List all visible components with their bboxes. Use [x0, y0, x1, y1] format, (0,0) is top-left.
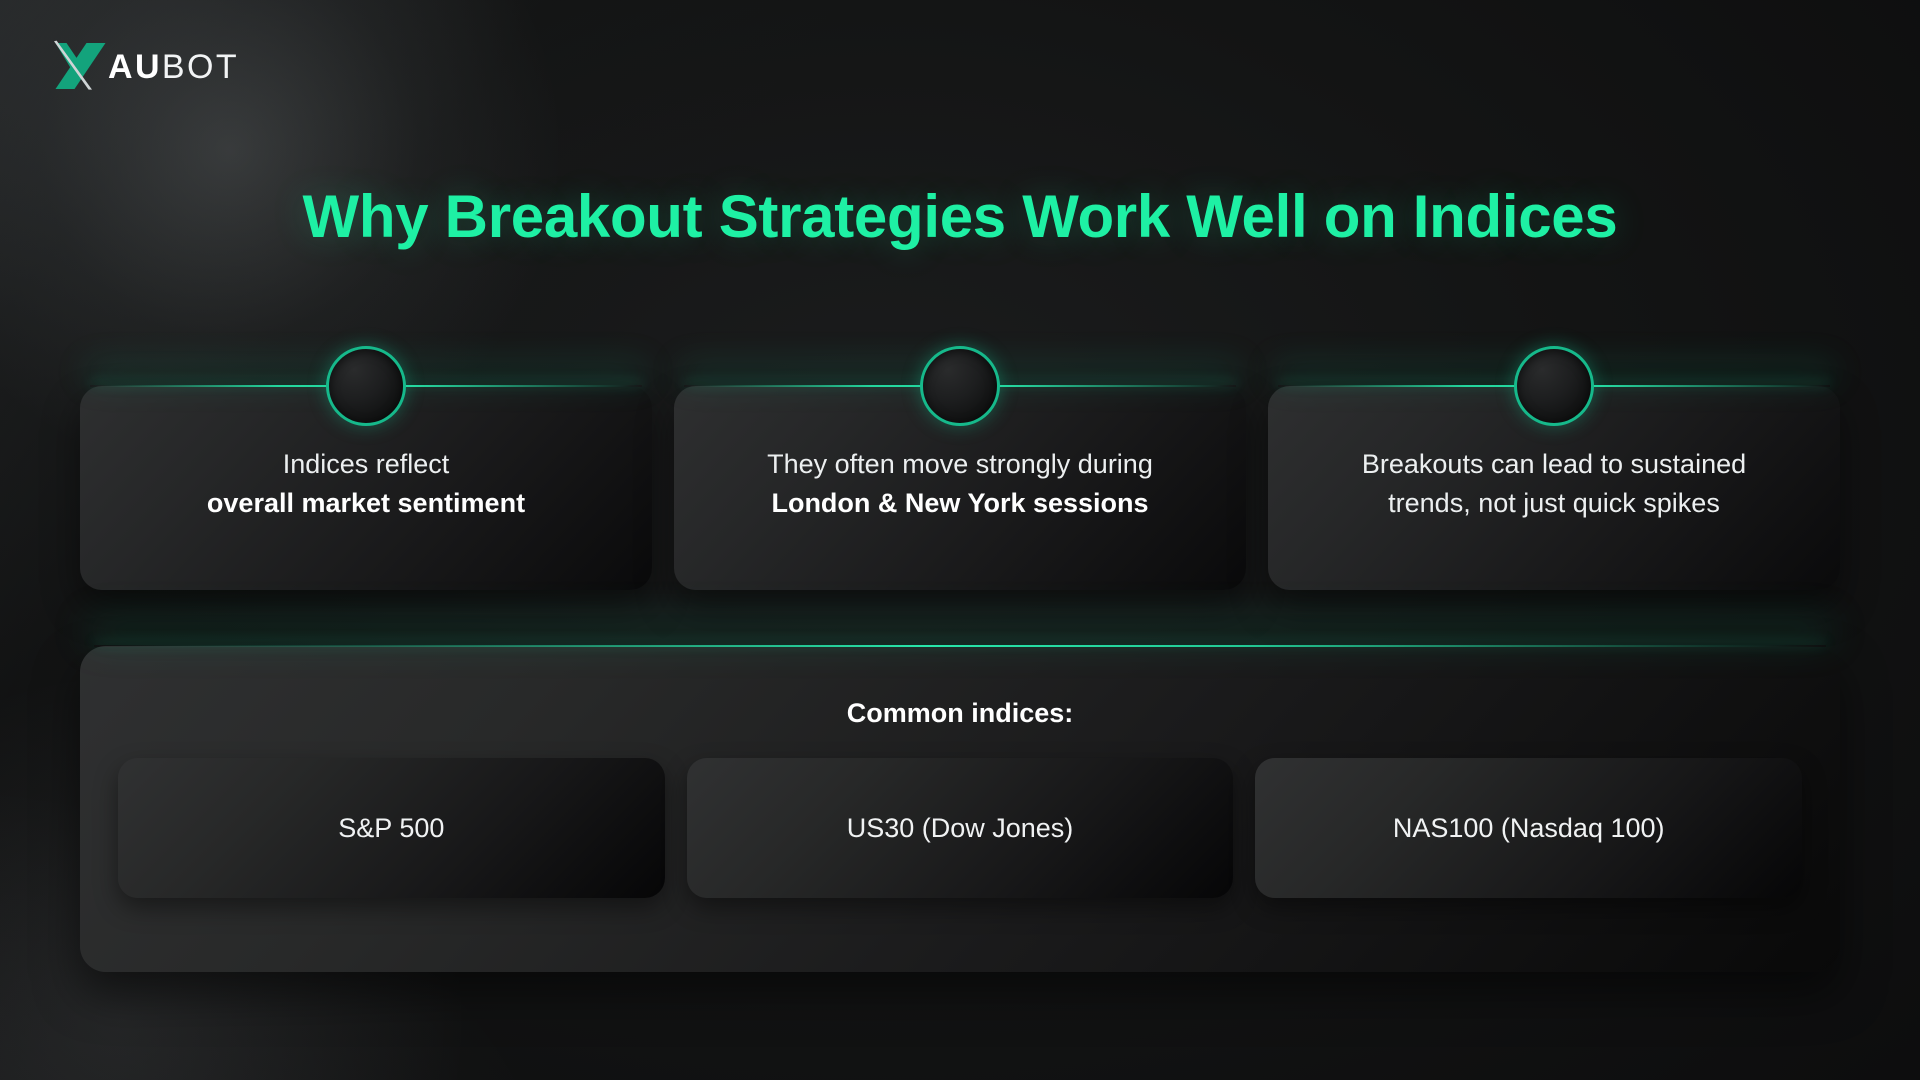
feature-card-2-line-1: They often move strongly during [767, 445, 1153, 484]
page-title: Why Breakout Strategies Work Well on Ind… [0, 182, 1920, 251]
feature-card-3-line-2: trends, not just quick spikes [1388, 484, 1720, 523]
brand-logo[interactable]: AUBOT [52, 40, 239, 92]
index-chip-label: NAS100 (Nasdaq 100) [1393, 813, 1665, 844]
x-logo-icon [52, 40, 108, 92]
index-chip-us30[interactable]: US30 (Dow Jones) [687, 758, 1234, 898]
index-chip-sp500[interactable]: S&P 500 [118, 758, 665, 898]
common-indices-title: Common indices: [80, 698, 1840, 729]
slide-canvas: AUBOT Why Breakout Strategies Work Well … [0, 0, 1920, 1080]
index-chip-label: S&P 500 [338, 813, 444, 844]
common-indices-panel: Common indices: S&P 500 US30 (Dow Jones)… [80, 646, 1840, 972]
feature-card-row: Indices reflect overall market sentiment… [80, 386, 1840, 590]
index-chip-label: US30 (Dow Jones) [847, 813, 1074, 844]
brand-wordmark-secondary: BOT [162, 48, 239, 86]
circle-outline-icon [1514, 346, 1594, 426]
circle-outline-icon [326, 346, 406, 426]
feature-card-2: They often move strongly during London &… [674, 386, 1246, 590]
brand-wordmark: AUBOT [108, 50, 239, 84]
feature-card-3: Breakouts can lead to sustained trends, … [1268, 386, 1840, 590]
background-sheen-top-left [0, 0, 839, 759]
brand-wordmark-primary: AU [108, 48, 162, 86]
index-chip-nas100[interactable]: NAS100 (Nasdaq 100) [1255, 758, 1802, 898]
circle-outline-icon [920, 346, 1000, 426]
feature-card-1-line-2: overall market sentiment [207, 484, 525, 523]
feature-card-3-line-1: Breakouts can lead to sustained [1362, 445, 1746, 484]
feature-card-2-line-2: London & New York sessions [771, 484, 1148, 523]
feature-card-1: Indices reflect overall market sentiment [80, 386, 652, 590]
feature-card-1-line-1: Indices reflect [283, 445, 450, 484]
common-indices-chip-row: S&P 500 US30 (Dow Jones) NAS100 (Nasdaq … [118, 758, 1802, 898]
